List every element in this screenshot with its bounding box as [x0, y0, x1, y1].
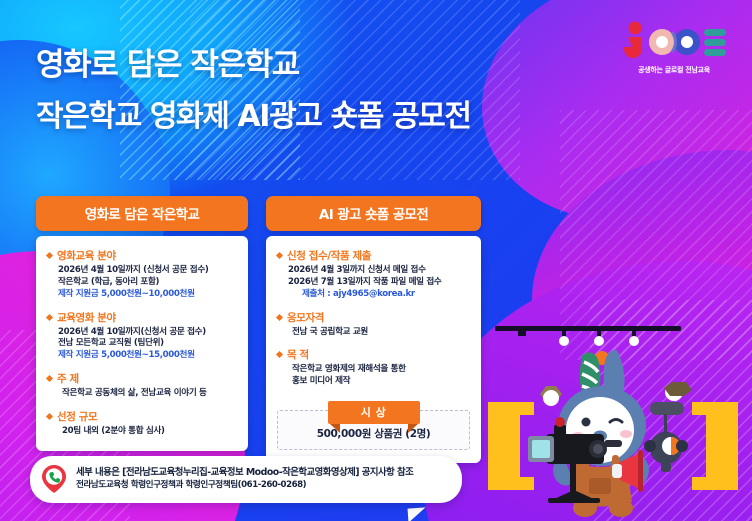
- jooe-logo-block: 공생하는 글로컬 전남교육: [614, 20, 734, 75]
- left-bracket-icon: [488, 402, 534, 490]
- section-eligibility: 응모자격 전남 국 공립학교 교원: [277, 310, 470, 339]
- section-lines: 20팀 내외 (2분야 통합 심사): [47, 426, 237, 438]
- section-line: 홍보 미디어 제작: [288, 376, 470, 388]
- ribbon-tail-right-icon: [408, 424, 418, 433]
- footer-text-block: 세부 내용은 [전라남도교육청누리집-교육정보 Modoo-작은학교영화영상제]…: [76, 467, 413, 491]
- diamond-bullet-icon: [46, 314, 53, 321]
- diamond-bullet-icon: [276, 252, 283, 259]
- footer-line-2: 전라남도교육청 학령인구정책과 학령인구정책팀(061-260-0268): [76, 480, 413, 492]
- rabbit-mascot-icon: [553, 350, 649, 517]
- footer-note: 세부 내용은 [전라남도교육청누리집-교육정보 Modoo-작은학교영화영상제]…: [30, 456, 462, 503]
- section-film-education-field: 영화교육 분야 2026년 4월 10일까지 (신청서 공문 접수) 작은학교 …: [47, 248, 237, 301]
- diamond-bullet-icon: [46, 252, 53, 259]
- diamond-bullet-icon: [46, 375, 53, 382]
- section-title-text: 응모자격: [287, 310, 324, 325]
- section-line: 20팀 내외 (2분야 통합 심사): [58, 426, 237, 438]
- section-line: 작은학교 공동체의 삶, 전남교육 이야기 등: [58, 388, 237, 400]
- diamond-bullet-icon: [276, 314, 283, 321]
- section-title-row: 교육영화 분야: [47, 310, 237, 325]
- section-lines: 2026년 4월 3일까지 신청서 메일 접수 2026년 7월 13일까지 작…: [277, 265, 470, 301]
- card-header-right: AI 광고 숏폼 공모전: [266, 196, 481, 231]
- section-title-text: 선정 규모: [57, 409, 97, 424]
- section-line-accent: 제작 지원금 5,000천원~15,000천원: [58, 350, 237, 362]
- lighting-truss-icon: [495, 326, 681, 346]
- info-cards: 영화로 담은 작은학교 영화교육 분야 2026년 4월 10일까지 (신청서 …: [36, 196, 481, 463]
- footer-speech-tail-icon: [408, 507, 427, 521]
- prize-ribbon: 시 상: [328, 401, 420, 424]
- ribbon-tail-left-icon: [330, 424, 340, 433]
- section-title-row: 응모자격: [277, 310, 470, 325]
- card-ai-shortform: AI 광고 숏폼 공모전 신청 접수/작품 제출 2026년 4월 3일까지 신…: [266, 196, 481, 463]
- diamond-bullet-icon: [276, 351, 283, 358]
- section-line: 전남 국 공립학교 교원: [288, 327, 470, 339]
- phone-pin-icon: [41, 464, 67, 494]
- section-title-text: 교육영화 분야: [57, 310, 116, 325]
- card-body-right: 신청 접수/작품 제출 2026년 4월 3일까지 신청서 메일 접수 2026…: [266, 236, 481, 463]
- section-lines: 작은학교 영화제의 재해석을 통한 홍보 미디어 제작: [277, 364, 470, 388]
- section-line-accent: 제작 지원금 5,000천원~10,000천원: [58, 289, 237, 301]
- card-body-left: 영화교육 분야 2026년 4월 10일까지 (신청서 공문 접수) 작은학교 …: [36, 236, 248, 451]
- prize-ribbon-label: 시 상: [328, 401, 420, 424]
- section-lines: 2026년 4월 10일까지 (신청서 공문 접수) 작은학교 (학급, 동아리…: [47, 265, 237, 301]
- section-title-row: 신청 접수/작품 제출: [277, 248, 470, 263]
- section-education-film-field: 교육영화 분야 2026년 4월 10일까지(신청서 공문 접수) 전남 모든학…: [47, 310, 237, 363]
- diamond-bullet-icon: [46, 413, 53, 420]
- section-title-text: 목 적: [287, 347, 309, 362]
- section-title-row: 선정 규모: [47, 409, 237, 424]
- section-selection-scale: 선정 규모 20팀 내외 (2분야 통합 심사): [47, 409, 237, 438]
- card-header-left: 영화로 담은 작은학교: [36, 196, 248, 231]
- section-purpose: 목 적 작은학교 영화제의 재해석을 통한 홍보 미디어 제작: [277, 347, 470, 388]
- section-line: 2026년 4월 3일까지 신청서 메일 접수: [288, 265, 470, 277]
- section-title-text: 주 제: [57, 371, 79, 386]
- logo-tagline: 공생하는 글로컬 전남교육: [614, 65, 734, 75]
- headline-line-2: 작은학교 영화제 AI광고 숏폼 공모전: [36, 102, 471, 132]
- section-title-text: 신청 접수/작품 제출: [287, 248, 371, 263]
- section-line: 작은학교 (학급, 동아리 포함): [58, 277, 237, 289]
- illustration-rabbit-mascot: [478, 322, 752, 521]
- section-line: 작은학교 영화제의 재해석을 통한: [288, 364, 470, 376]
- section-lines: 전남 국 공립학교 교원: [277, 327, 470, 339]
- boom-microphone-icon: [644, 382, 692, 472]
- poster-root: 공생하는 글로컬 전남교육 영화로 담은 작은학교 작은학교 영화제 AI광고 …: [0, 0, 752, 521]
- prize-value: 500,000원 상품권 (2명): [286, 426, 461, 441]
- section-line: 전남 모든학교 교직원 (팀단위): [58, 338, 237, 350]
- headline-block: 영화로 담은 작은학교 작은학교 영화제 AI광고 숏폼 공모전: [36, 50, 471, 132]
- right-bracket-icon: [692, 402, 738, 490]
- submission-email[interactable]: 제출처 : ajy4965@korea.kr: [288, 289, 470, 301]
- section-title-text: 영화교육 분야: [57, 248, 116, 263]
- footer-line-1: 세부 내용은 [전라남도교육청누리집-교육정보 Modoo-작은학교영화영상제]…: [76, 467, 413, 480]
- section-line: 2026년 4월 10일까지 (신청서 공문 접수): [58, 265, 237, 277]
- section-title-row: 주 제: [47, 371, 237, 386]
- headline-line-1: 영화로 담은 작은학교: [36, 50, 471, 81]
- section-title-row: 영화교육 분야: [47, 248, 237, 263]
- section-line: 2026년 7월 13일까지 작품 파일 메일 접수: [288, 277, 470, 289]
- section-theme: 주 제 작은학교 공동체의 삶, 전남교육 이야기 등: [47, 371, 237, 400]
- section-lines: 2026년 4월 10일까지(신청서 공문 접수) 전남 모든학교 교직원 (팀…: [47, 327, 237, 363]
- section-lines: 작은학교 공동체의 삶, 전남교육 이야기 등: [47, 388, 237, 400]
- card-film-education: 영화로 담은 작은학교 영화교육 분야 2026년 4월 10일까지 (신청서 …: [36, 196, 248, 463]
- studio-light-icon: [540, 386, 562, 406]
- section-title-row: 목 적: [277, 347, 470, 362]
- section-application-submission: 신청 접수/작품 제출 2026년 4월 3일까지 신청서 메일 접수 2026…: [277, 248, 470, 301]
- section-line: 2026년 4월 10일까지(신청서 공문 접수): [58, 327, 237, 339]
- prize-block: 시 상 500,000원 상품권 (2명): [277, 401, 470, 450]
- jooe-logo-icon: [618, 20, 730, 62]
